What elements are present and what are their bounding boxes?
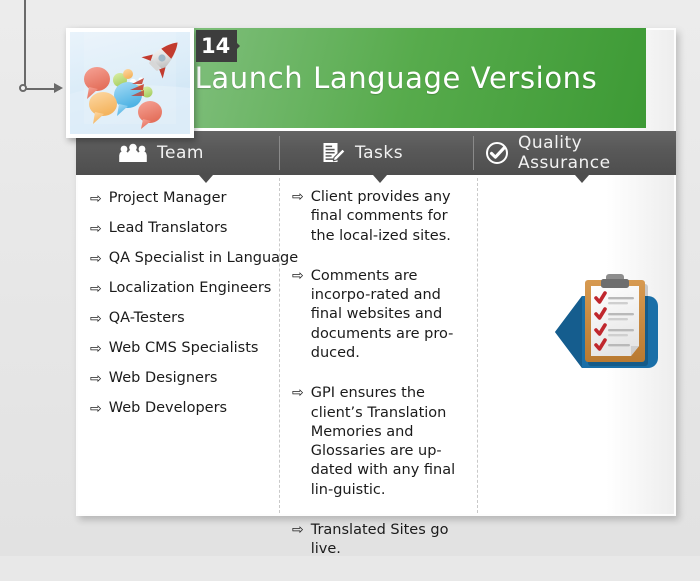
connector-node-icon <box>19 84 27 92</box>
people-group-icon <box>118 143 148 163</box>
list-item: ⇨ Comments are incorpo-rated and final w… <box>292 267 472 363</box>
column-header-quality-assurance[interactable]: Quality Assurance <box>485 131 676 175</box>
column-header-tasks[interactable]: Tasks <box>322 131 403 175</box>
list-item-label: Localization Engineers <box>109 280 290 296</box>
list-item-label: Comments are incorpo-rated and final web… <box>311 267 472 363</box>
arrow-bullet-icon: ⇨ <box>90 220 102 236</box>
arrow-bullet-icon: ⇨ <box>292 267 304 283</box>
column-divider-1 <box>279 136 280 170</box>
column-divider-2 <box>473 136 474 170</box>
list-item-label: Client provides any final comments for t… <box>311 188 472 246</box>
column-pointer-qa-icon <box>575 175 589 183</box>
column-separator-2 <box>477 178 478 513</box>
list-item: ⇨ Web Designers <box>90 370 290 386</box>
arrow-bullet-icon: ⇨ <box>90 250 102 266</box>
arrow-bullet-icon: ⇨ <box>292 188 304 204</box>
arrow-bullet-icon: ⇨ <box>90 340 102 356</box>
arrow-bullet-icon: ⇨ <box>90 370 102 386</box>
document-pencil-icon <box>322 142 346 164</box>
step-badge-tip-icon <box>230 36 240 56</box>
arrow-bullet-icon: ⇨ <box>292 384 304 400</box>
tasks-column-list: ⇨ Client provides any final comments for… <box>292 188 472 581</box>
list-item-label: GPI ensures the client’s Translation Mem… <box>311 384 472 500</box>
slide-canvas: Launch Language Versions 14 <box>0 0 700 556</box>
arrow-bullet-icon: ⇨ <box>90 400 102 416</box>
arrow-bullet-icon: ⇨ <box>90 190 102 206</box>
list-item: ⇨ QA-Testers <box>90 310 290 326</box>
connector-vertical-line <box>24 0 26 88</box>
list-item-label: QA Specialist in Language <box>109 250 298 266</box>
team-column-list: ⇨ Project Manager ⇨ Lead Translators ⇨ Q… <box>90 190 290 430</box>
column-header-tasks-label: Tasks <box>355 143 403 163</box>
list-item: ⇨ Web Developers <box>90 400 290 416</box>
column-header-team-label: Team <box>157 143 204 163</box>
arrow-bullet-icon: ⇨ <box>90 280 102 296</box>
column-pointer-tasks-icon <box>373 175 387 183</box>
list-item: ⇨ GPI ensures the client’s Translation M… <box>292 384 472 500</box>
list-item-label: Project Manager <box>109 190 290 206</box>
list-item-label: Translated Sites go live. <box>311 521 472 560</box>
list-item-label: QA-Testers <box>109 310 290 326</box>
list-item: ⇨ Localization Engineers <box>90 280 290 296</box>
list-item: ⇨ Translated Sites go live. <box>292 521 472 560</box>
check-badge-icon <box>485 141 509 165</box>
column-pointer-team-icon <box>199 175 213 183</box>
arrow-bullet-icon: ⇨ <box>90 310 102 326</box>
connector-arrow-icon <box>54 83 63 93</box>
list-item-label: Lead Translators <box>109 220 290 236</box>
list-item-label: Web CMS Specialists <box>109 340 290 356</box>
list-item-label: Web Developers <box>109 400 290 416</box>
arrow-bullet-icon: ⇨ <box>292 521 304 537</box>
list-item: ⇨ Project Manager <box>90 190 290 206</box>
list-item: ⇨ Web CMS Specialists <box>90 340 290 356</box>
list-item: ⇨ Lead Translators <box>90 220 290 236</box>
column-header-qa-label: Quality Assurance <box>518 133 676 173</box>
rocket-launch-icon <box>66 28 194 138</box>
list-item: ⇨ QA Specialist in Language <box>90 250 290 266</box>
list-item: ⇨ Client provides any final comments for… <box>292 188 472 246</box>
clipboard-checklist-icon <box>552 262 677 387</box>
list-item-label: Web Designers <box>109 370 290 386</box>
